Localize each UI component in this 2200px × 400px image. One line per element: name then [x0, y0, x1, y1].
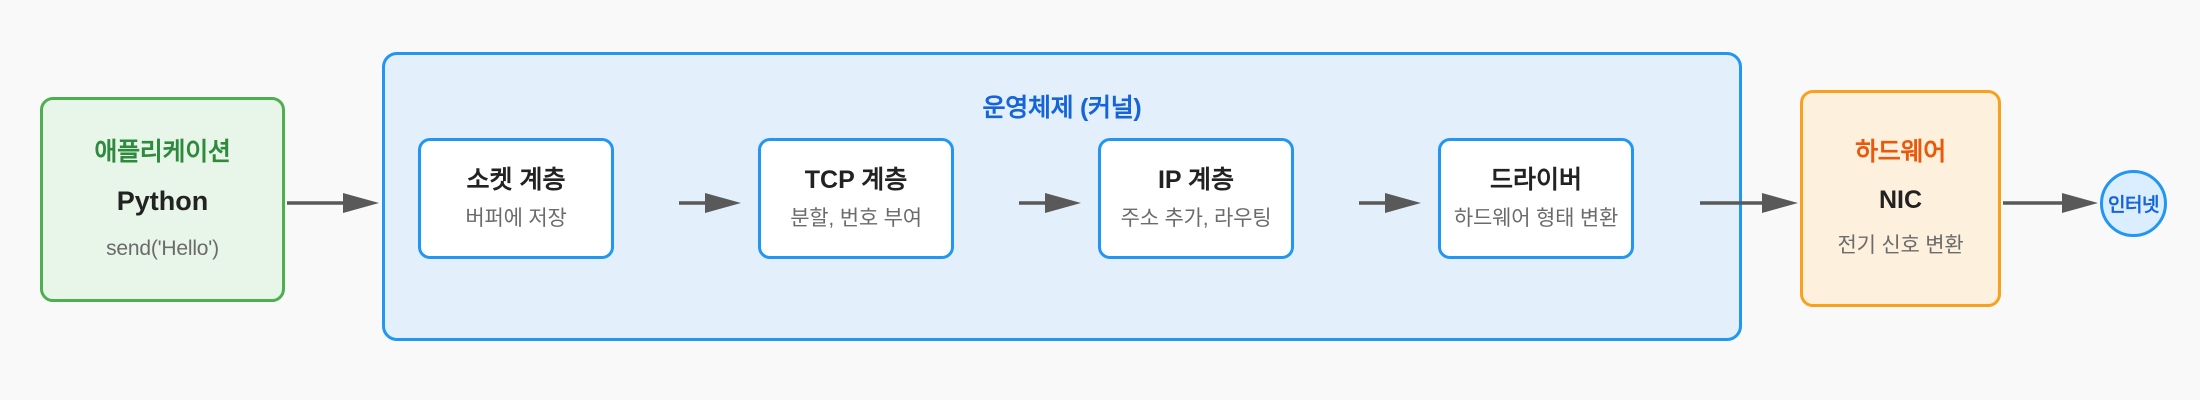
hardware-main-label: NIC — [1879, 187, 1922, 215]
kernel-layer-tcp[interactable]: TCP 계층 분할, 번호 부여 — [758, 138, 954, 259]
kernel-layer-driver-main: 드라이버 — [1490, 167, 1582, 195]
kernel-layer-ip-main: IP 계층 — [1158, 167, 1234, 195]
kernel-layer-ip-sub: 주소 추가, 라우팅 — [1121, 207, 1272, 230]
kernel-layer-tcp-sub: 분할, 번호 부여 — [790, 207, 922, 230]
kernel-layer-socket-sub: 버퍼에 저장 — [465, 207, 566, 230]
application-node[interactable]: 애플리케이션 Python send('Hello') — [40, 97, 285, 302]
diagram-canvas: 애플리케이션 Python send('Hello') 운영체제 (커널) 소켓… — [0, 0, 2200, 400]
arrow-hardware-to-internet — [2003, 192, 2098, 214]
arrow-app-to-kernel — [287, 192, 379, 214]
hardware-sub-label: 전기 신호 변환 — [1838, 234, 1964, 257]
arrow-driver-to-hardware — [1700, 192, 1798, 214]
application-sub-label: send('Hello') — [106, 237, 219, 260]
application-main-label: Python — [117, 187, 209, 217]
kernel-title: 운영체제 (커널) — [385, 88, 1739, 124]
kernel-layer-tcp-main: TCP 계층 — [805, 167, 908, 195]
kernel-layer-socket[interactable]: 소켓 계층 버퍼에 저장 — [418, 138, 614, 259]
internet-node[interactable]: 인터넷 — [2100, 170, 2167, 237]
hardware-title: 하드웨어 — [1855, 139, 1946, 167]
internet-label: 인터넷 — [2108, 190, 2159, 217]
arrow-ip-to-driver — [1359, 192, 1421, 214]
application-title: 애플리케이션 — [94, 139, 230, 167]
arrow-tcp-to-ip — [1019, 192, 1081, 214]
kernel-layer-socket-main: 소켓 계층 — [467, 167, 566, 195]
hardware-node[interactable]: 하드웨어 NIC 전기 신호 변환 — [1800, 90, 2001, 307]
kernel-layer-driver-sub: 하드웨어 형태 변환 — [1454, 207, 1618, 230]
kernel-layer-driver[interactable]: 드라이버 하드웨어 형태 변환 — [1438, 138, 1634, 259]
arrow-socket-to-tcp — [679, 192, 741, 214]
kernel-layer-ip[interactable]: IP 계층 주소 추가, 라우팅 — [1098, 138, 1294, 259]
